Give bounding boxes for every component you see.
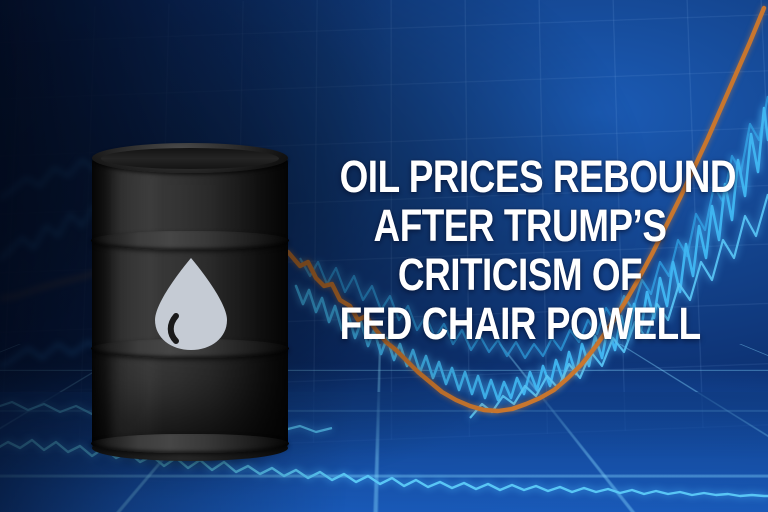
- headline-line-3: CRITICISM OF: [340, 250, 701, 299]
- headline-line-2: AFTER TRUMP’S: [340, 201, 701, 250]
- barrel-rib-bottom: [91, 434, 289, 453]
- headline-line-1: OIL PRICES REBOUND: [340, 152, 701, 201]
- headline-line-4: FED CHAIR POWELL: [340, 299, 701, 348]
- news-graphic-canvas: OIL PRICES REBOUND AFTER TRUMP’S CRITICI…: [0, 0, 768, 512]
- barrel-lid: [92, 143, 288, 173]
- oil-droplet-icon: [149, 256, 233, 352]
- barrel-rib-top: [91, 231, 289, 250]
- barrel-lid-inner: [101, 148, 279, 169]
- headline: OIL PRICES REBOUND AFTER TRUMP’S CRITICI…: [300, 152, 740, 348]
- oil-barrel: [92, 143, 288, 461]
